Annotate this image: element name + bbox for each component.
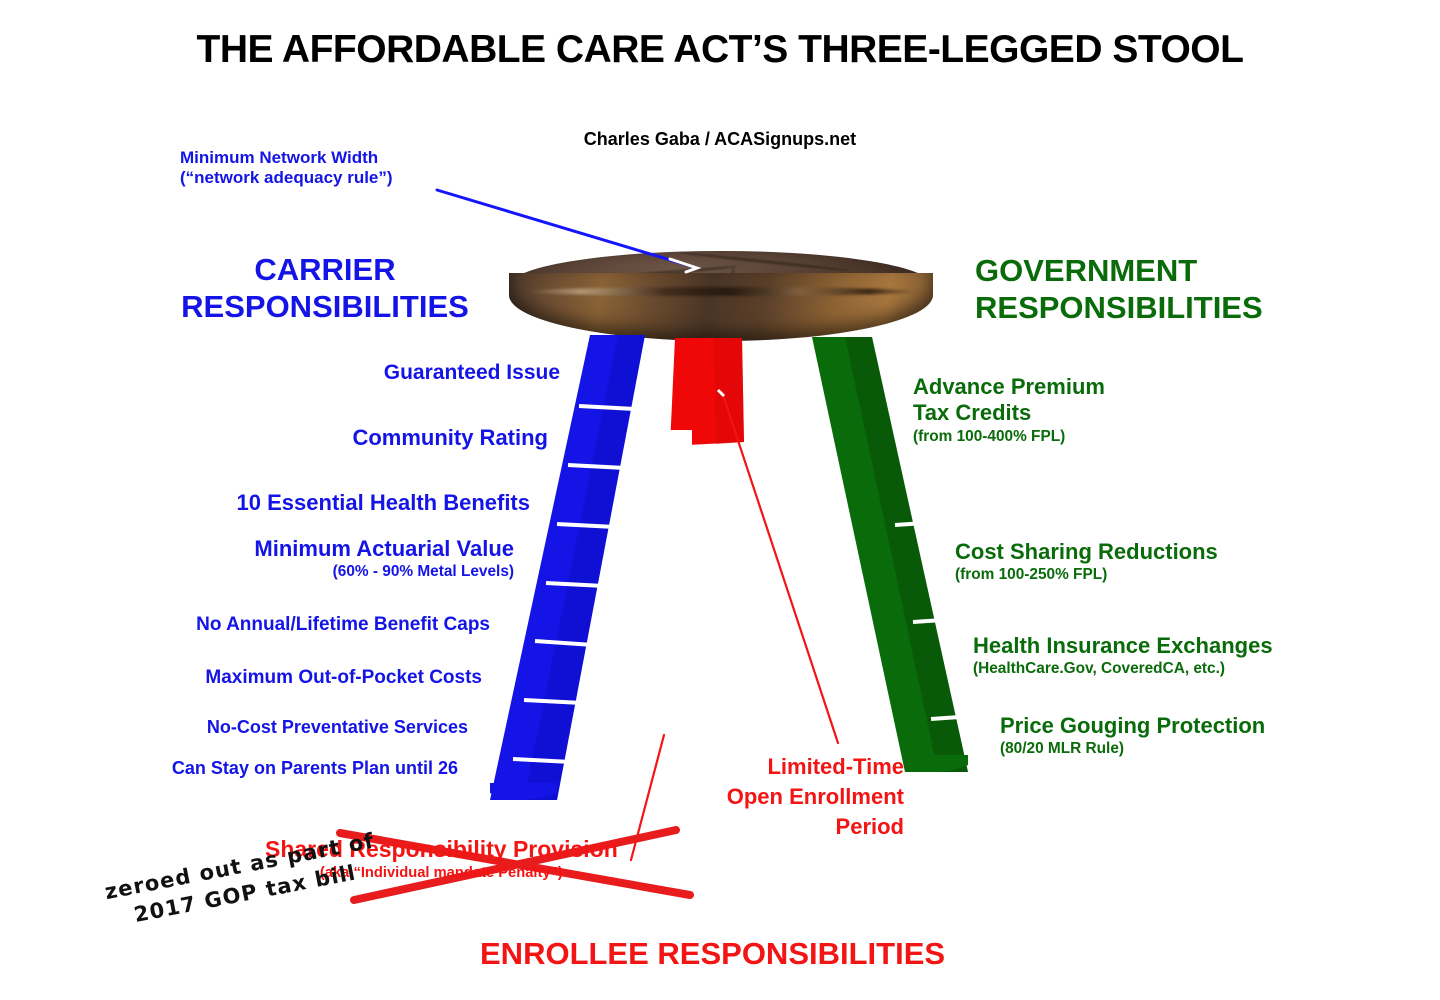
infographic-canvas: THE AFFORDABLE CARE ACT’S THREE-LEGGED S… — [0, 0, 1440, 1000]
government-item-2: Health Insurance Exchanges (HealthCare.G… — [973, 633, 1273, 679]
carrier-item-0: Guaranteed Issue — [110, 360, 560, 385]
page-title: THE AFFORDABLE CARE ACT’S THREE-LEGGED S… — [0, 28, 1440, 72]
government-heading-line2: RESPONSIBILITIES — [975, 290, 1263, 325]
government-item-2-sub: (HealthCare.Gov, CoveredCA, etc.) — [973, 659, 1273, 678]
carrier-item-2-label: 10 Essential Health Benefits — [237, 490, 530, 515]
government-item-0: Advance Premium Tax Credits (from 100-40… — [913, 374, 1105, 446]
stool-seat — [509, 251, 933, 342]
carrier-item-1-label: Community Rating — [352, 425, 548, 450]
carrier-item-2: 10 Essential Health Benefits — [90, 490, 530, 516]
callout-network-adequacy: Minimum Network Width (“network adequacy… — [180, 148, 393, 189]
open-enrollment-line2: Open Enrollment — [727, 784, 904, 809]
enrollee-heading: ENROLLEE RESPONSIBILITIES — [480, 935, 945, 972]
government-item-1: Cost Sharing Reductions (from 100-250% F… — [955, 539, 1218, 585]
callout-line2: (“network adequacy rule”) — [180, 168, 393, 187]
carrier-item-4: No Annual/Lifetime Benefit Caps — [90, 614, 490, 637]
government-item-0-label-line1: Advance Premium — [913, 374, 1105, 399]
carrier-heading: CARRIER RESPONSIBILITIES — [175, 252, 475, 325]
government-heading-line1: GOVERNMENT — [975, 253, 1197, 288]
carrier-item-6: No-Cost Preventative Services — [90, 717, 468, 739]
government-heading: GOVERNMENT RESPONSIBILITIES — [975, 253, 1295, 326]
government-item-3-label-line1: Price Gouging Protection — [1000, 713, 1265, 738]
carrier-heading-line2: RESPONSIBILITIES — [181, 289, 469, 324]
author-credit: Charles Gaba / ACASignups.net — [0, 129, 1440, 150]
carrier-item-5-label: Maximum Out-of-Pocket Costs — [205, 667, 482, 688]
carrier-item-1: Community Rating — [110, 425, 548, 451]
government-item-3: Price Gouging Protection (80/20 MLR Rule… — [1000, 713, 1265, 759]
open-enrollment-callout: Limited-Time Open Enrollment Period — [640, 752, 904, 842]
carrier-item-0-label: Guaranteed Issue — [384, 361, 560, 384]
leg-enrollee-red — [670, 338, 744, 448]
government-item-3-sub: (80/20 MLR Rule) — [1000, 739, 1265, 758]
carrier-item-3-sub: (60% - 90% Metal Levels) — [90, 562, 514, 581]
government-item-0-sub: (from 100-400% FPL) — [913, 427, 1105, 446]
handwritten-note: zeroed out as part of 2017 GOP tax bill — [75, 821, 410, 940]
carrier-item-6-label: No-Cost Preventative Services — [207, 717, 468, 737]
carrier-item-5: Maximum Out-of-Pocket Costs — [90, 667, 482, 690]
open-enrollment-line3: Period — [836, 814, 904, 839]
seat-rim — [509, 273, 933, 341]
government-item-1-sub: (from 100-250% FPL) — [955, 565, 1218, 584]
carrier-item-3: Minimum Actuarial Value (60% - 90% Metal… — [90, 536, 514, 582]
carrier-item-7-label: Can Stay on Parents Plan until 26 — [172, 758, 458, 778]
open-enrollment-line1: Limited-Time — [767, 754, 904, 779]
government-item-1-label-line1: Cost Sharing Reductions — [955, 539, 1218, 564]
government-item-2-label-line1: Health Insurance Exchanges — [973, 633, 1273, 658]
carrier-heading-line1: CARRIER — [254, 252, 395, 287]
callout-line1: Minimum Network Width — [180, 148, 378, 167]
government-item-0-label-line2: Tax Credits — [913, 400, 1031, 425]
carrier-item-7: Can Stay on Parents Plan until 26 — [80, 758, 458, 780]
pointer-open-enrollment — [718, 390, 838, 743]
carrier-item-3-label: Minimum Actuarial Value — [254, 536, 514, 561]
carrier-item-4-label: No Annual/Lifetime Benefit Caps — [196, 614, 490, 635]
